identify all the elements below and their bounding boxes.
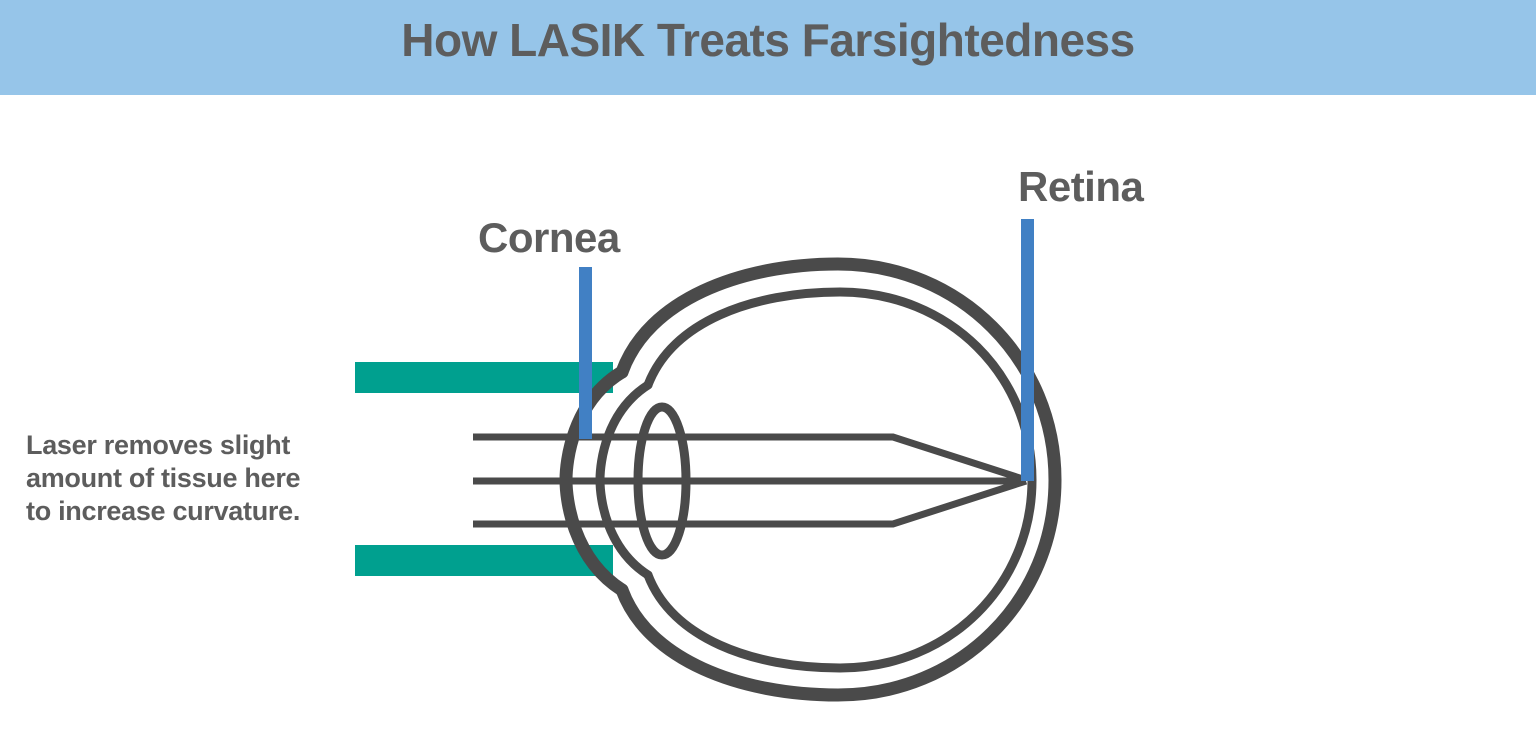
diagram-page: How LASIK Treats Farsightedness <box>0 0 1536 754</box>
laser-caption: Laser removes slight amount of tissue he… <box>26 429 376 528</box>
caption-line-1: Laser removes slight <box>26 429 376 462</box>
label-cornea: Cornea <box>478 214 620 262</box>
eye-cross-section-illustration <box>0 0 1536 754</box>
light-rays <box>473 437 1026 524</box>
caption-line-2: amount of tissue here <box>26 462 376 495</box>
laser-beam-upper <box>355 362 613 393</box>
retina-pointer-line <box>1021 219 1034 481</box>
caption-line-3: to increase curvature. <box>26 495 376 528</box>
cornea-pointer-line <box>579 267 592 439</box>
light-ray-upper <box>473 437 1026 480</box>
laser-beam-lower <box>355 545 613 576</box>
label-retina: Retina <box>1018 163 1143 211</box>
light-ray-lower <box>473 481 1026 524</box>
